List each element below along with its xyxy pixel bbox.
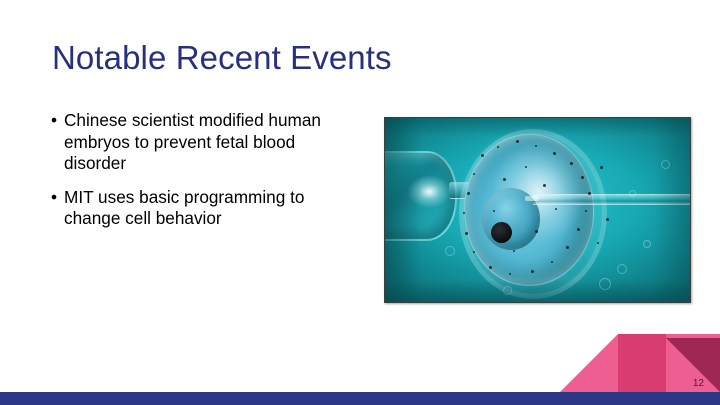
slide-number: 12 (693, 378, 704, 389)
bullet-list: • Chinese scientist modified human embry… (50, 110, 360, 230)
slide-canvas: Notable Recent Events • Chinese scientis… (0, 0, 720, 405)
footer-bar (0, 392, 720, 405)
image-vignette (385, 118, 690, 302)
ivf-embryo-image (384, 117, 691, 303)
list-item-text: Chinese scientist modified human embryos… (64, 110, 360, 175)
corner-rectangle-middle (618, 334, 666, 392)
corner-triangle-left (560, 334, 618, 392)
list-item-text: MIT uses basic programming to change cel… (64, 187, 360, 230)
page-title: Notable Recent Events (52, 38, 652, 78)
list-item: • Chinese scientist modified human embry… (50, 110, 360, 175)
bullet-marker-icon: • (51, 110, 57, 132)
bullet-marker-icon: • (51, 187, 57, 209)
list-item: • MIT uses basic programming to change c… (50, 187, 360, 230)
